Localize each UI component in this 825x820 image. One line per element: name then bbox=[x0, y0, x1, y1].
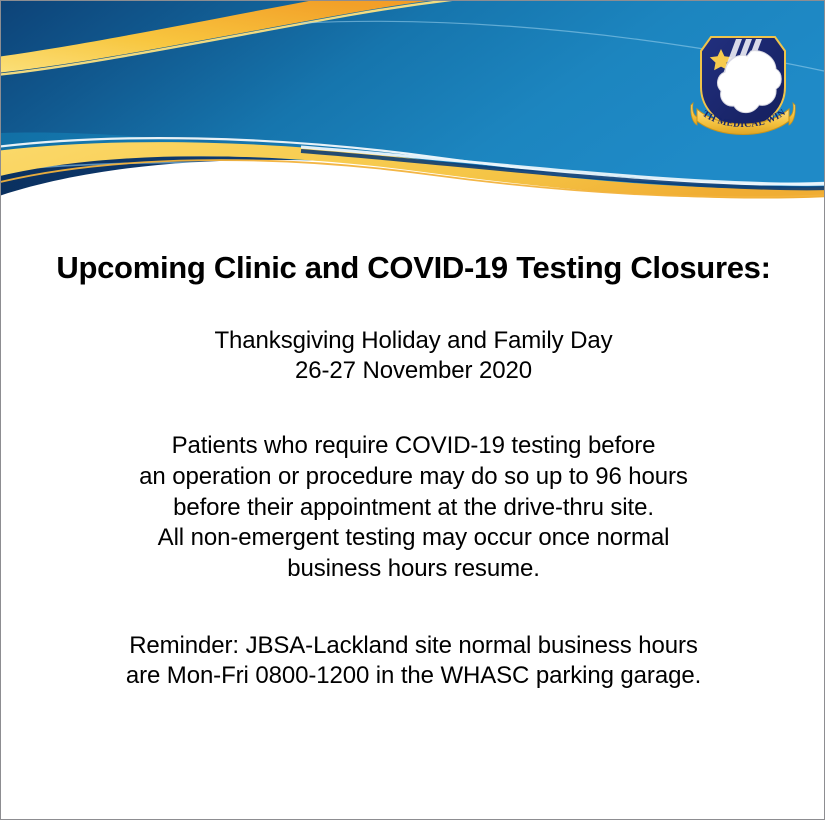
date-line-2: 26-27 November 2020 bbox=[21, 356, 806, 387]
reminder-block: Reminder: JBSA-Lackland site normal busi… bbox=[1, 631, 825, 692]
date-line-1: Thanksgiving Holiday and Family Day bbox=[21, 326, 806, 357]
body-line-3: before their appointment at the drive-th… bbox=[21, 493, 806, 524]
body-block: Patients who require COVID-19 testing be… bbox=[1, 431, 825, 585]
reminder-line-1: Reminder: JBSA-Lackland site normal busi… bbox=[21, 631, 806, 662]
body-line-2: an operation or procedure may do so up t… bbox=[21, 462, 806, 493]
reminder-line-2: are Mon-Fri 0800-1200 in the WHASC parki… bbox=[21, 661, 806, 692]
wing-emblem: 59TH MEDICAL WING bbox=[689, 25, 797, 143]
scroll-left-curl bbox=[691, 103, 697, 125]
header-banner: 59TH MEDICAL WING bbox=[1, 1, 824, 201]
poster-content: Upcoming Clinic and COVID-19 Testing Clo… bbox=[1, 233, 825, 692]
body-line-4: All non-emergent testing may occur once … bbox=[21, 523, 806, 554]
date-block: Thanksgiving Holiday and Family Day 26-2… bbox=[1, 326, 825, 387]
scroll-right-curl bbox=[789, 103, 795, 125]
body-line-5: business hours resume. bbox=[21, 554, 806, 585]
poster-canvas: 59TH MEDICAL WING Upcoming Clinic and CO… bbox=[0, 0, 825, 820]
body-line-1: Patients who require COVID-19 testing be… bbox=[21, 431, 806, 462]
page-title: Upcoming Clinic and COVID-19 Testing Clo… bbox=[1, 233, 825, 286]
usaf-shield-icon: 59TH MEDICAL WING bbox=[689, 25, 797, 143]
